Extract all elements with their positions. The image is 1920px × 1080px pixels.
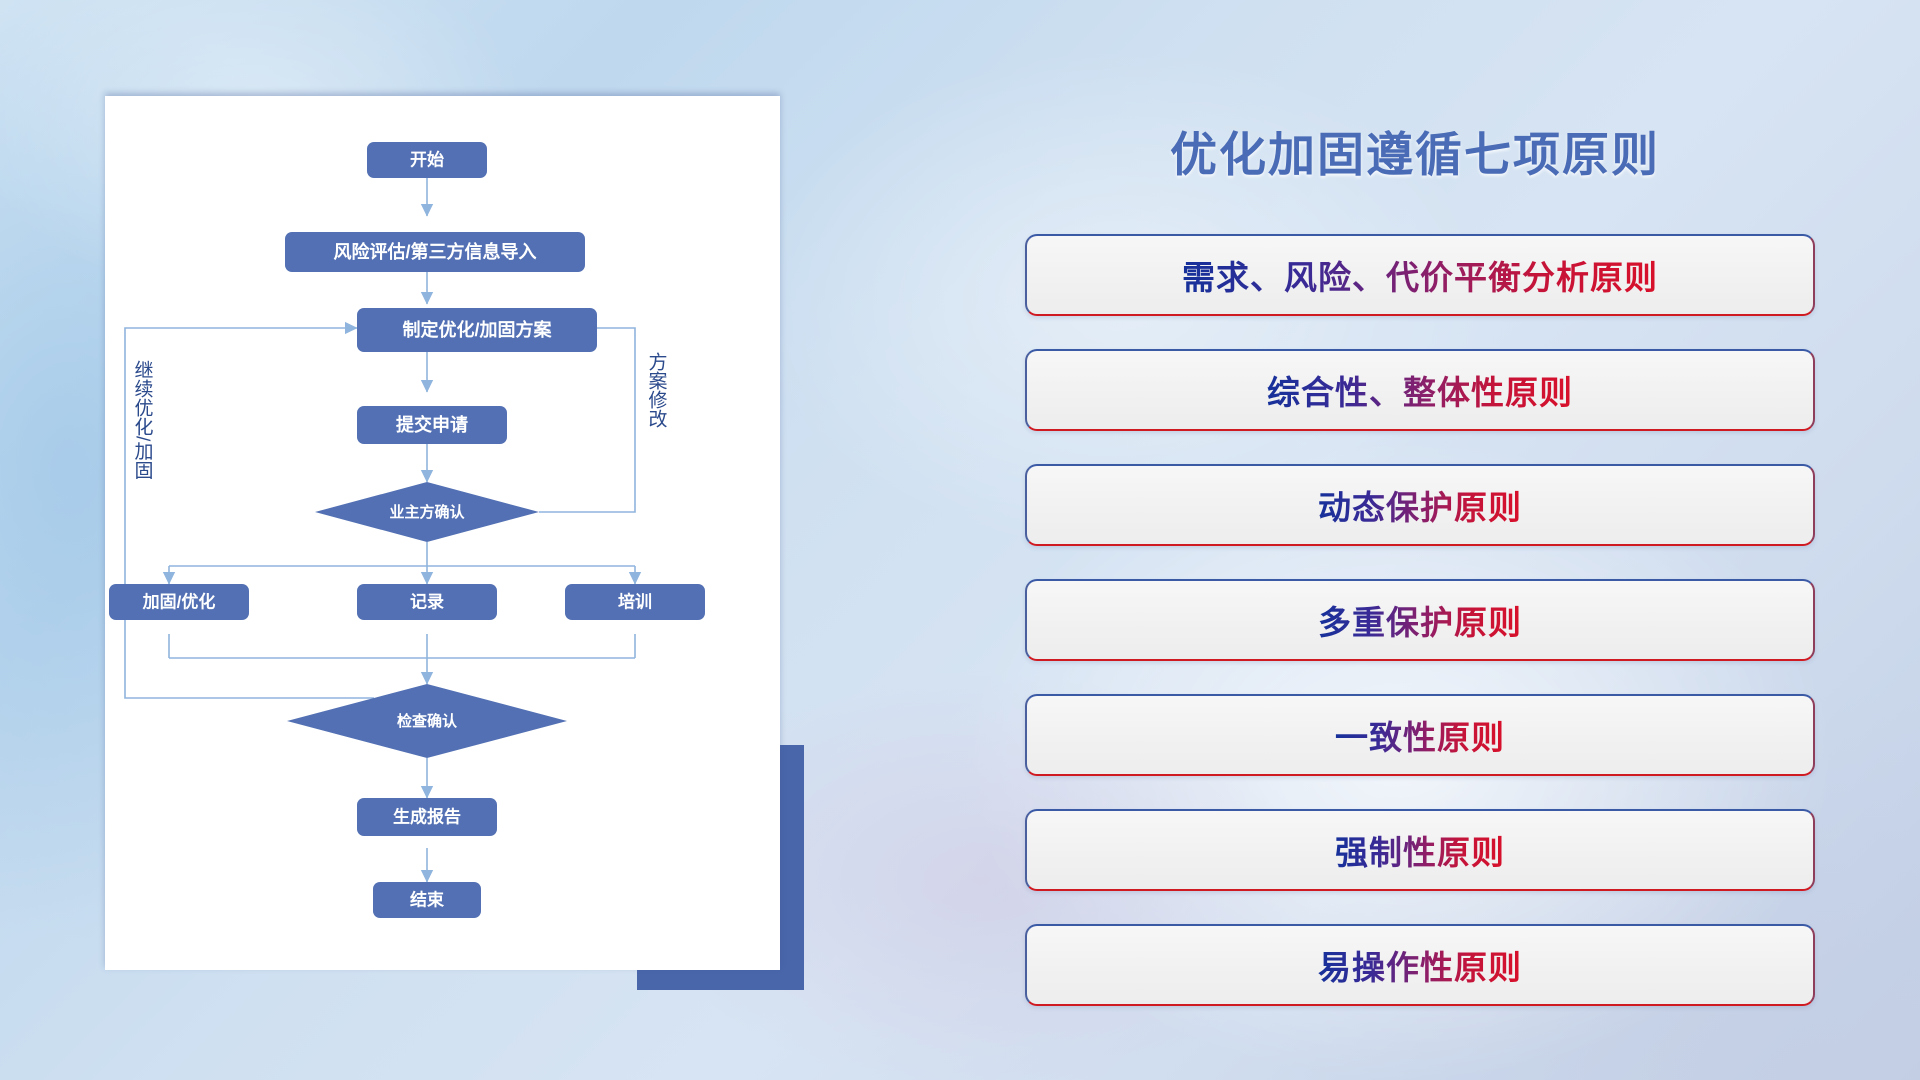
flow-node-submit-label: 提交申请 (396, 414, 468, 435)
principles-panel: 优化加固遵循七项原则 需求、风险、代价平衡分析原则 综合性、整体性原则 动态保护… (1000, 96, 1830, 986)
flow-node-check[interactable]: 检查确认 (287, 684, 567, 758)
flow-node-plan[interactable]: 制定优化/加固方案 (357, 308, 597, 352)
principle-item-1-label: 需求、风险、代价平衡分析原则 (1182, 251, 1658, 299)
flowchart-diagram: 开始 风险评估/第三方信息导入 制定优化/加固方案 提交申请 业主方确认 加固/… (105, 96, 780, 970)
edge-right-loop (495, 328, 635, 512)
flow-node-record-label: 记录 (410, 592, 444, 611)
edge-label-right-loop: 方案修改 (646, 352, 668, 428)
principle-item-5[interactable]: 一致性原则 (1025, 694, 1815, 776)
flow-node-assess-label: 风险评估/第三方信息导入 (334, 241, 537, 262)
flow-node-report[interactable]: 生成报告 (357, 798, 497, 836)
flow-node-train[interactable]: 培训 (565, 584, 705, 620)
flow-node-assess[interactable]: 风险评估/第三方信息导入 (285, 232, 585, 272)
principle-item-2[interactable]: 综合性、整体性原则 (1025, 349, 1815, 431)
flow-node-owner-confirm[interactable]: 业主方确认 (315, 482, 539, 542)
principle-item-4-label: 多重保护原则 (1318, 596, 1522, 644)
principle-item-5-label: 一致性原则 (1335, 711, 1505, 759)
principle-item-7[interactable]: 易操作性原则 (1025, 924, 1815, 1006)
flowchart-card: 开始 风险评估/第三方信息导入 制定优化/加固方案 提交申请 业主方确认 加固/… (105, 96, 780, 970)
principle-item-3[interactable]: 动态保护原则 (1025, 464, 1815, 546)
principle-item-7-label: 易操作性原则 (1318, 941, 1522, 989)
flow-node-start[interactable]: 开始 (367, 142, 487, 178)
flow-node-report-label: 生成报告 (393, 806, 461, 826)
flow-node-end-label: 结束 (410, 889, 444, 909)
flow-node-owner-confirm-label: 业主方确认 (389, 503, 465, 521)
flow-node-record[interactable]: 记录 (357, 584, 497, 620)
principle-item-2-label: 综合性、整体性原则 (1267, 366, 1573, 414)
flow-node-reinforce[interactable]: 加固/优化 (109, 584, 249, 620)
principle-item-6-label: 强制性原则 (1335, 826, 1505, 874)
flow-node-start-label: 开始 (410, 149, 444, 169)
edge-label-left-loop: 继续优化/加固 (132, 360, 154, 480)
flow-node-end[interactable]: 结束 (373, 882, 481, 918)
flow-node-submit[interactable]: 提交申请 (357, 406, 507, 444)
flow-node-check-label: 检查确认 (397, 712, 458, 730)
principle-item-3-label: 动态保护原则 (1318, 481, 1522, 529)
principle-item-6[interactable]: 强制性原则 (1025, 809, 1815, 891)
principle-item-1[interactable]: 需求、风险、代价平衡分析原则 (1025, 234, 1815, 316)
principle-list: 需求、风险、代价平衡分析原则 综合性、整体性原则 动态保护原则 多重保护原则 一… (1025, 234, 1815, 1039)
panel-title: 优化加固遵循七项原则 (1000, 116, 1830, 185)
principle-item-4[interactable]: 多重保护原则 (1025, 579, 1815, 661)
flow-node-reinforce-label: 加固/优化 (142, 591, 216, 611)
flow-node-plan-label: 制定优化/加固方案 (402, 319, 552, 340)
flow-node-train-label: 培训 (618, 591, 652, 611)
